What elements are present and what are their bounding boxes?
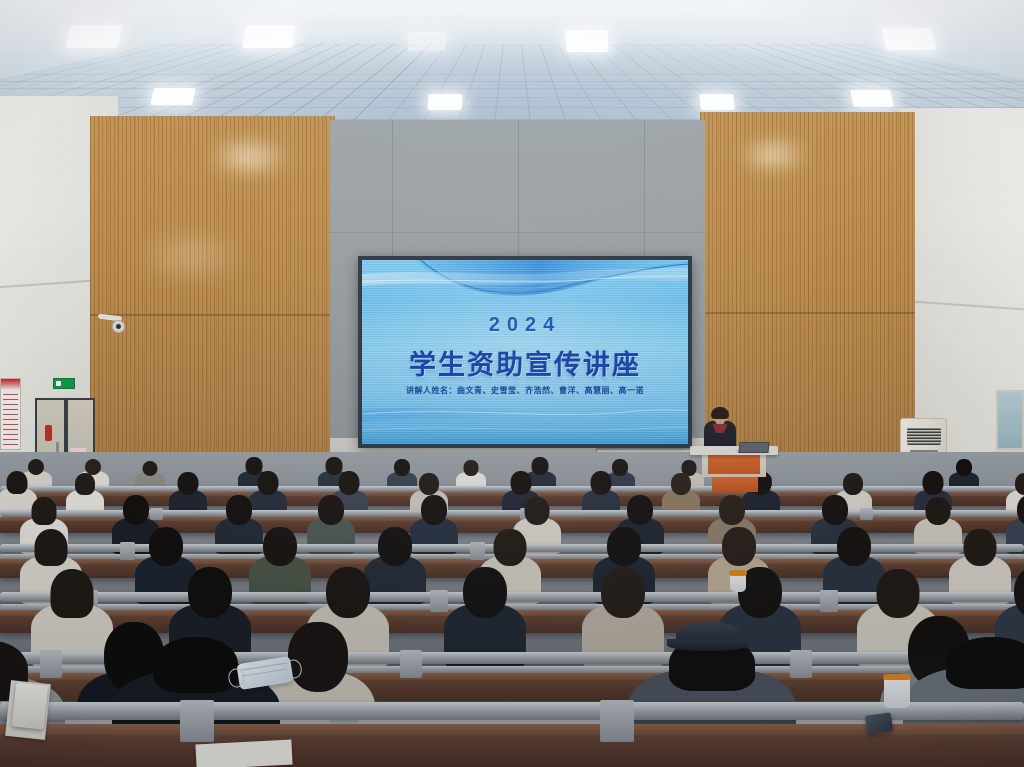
- ceiling-light-panel: [150, 88, 196, 105]
- wood-light-reflection: [206, 138, 292, 176]
- camera-lens: [116, 324, 121, 329]
- cup-lid: [883, 674, 911, 680]
- cup-body: [884, 678, 910, 708]
- ceiling-light-panel: [408, 32, 446, 51]
- side-window: [996, 390, 1024, 450]
- cup-lid: [729, 570, 747, 576]
- wall-panel-seam: [330, 232, 705, 233]
- mask-pleat: [241, 662, 287, 670]
- notice-board-text-lines: [3, 393, 18, 445]
- slide-presenters-text: 讲解人姓名：曲文青、史雪莹、齐浩然、曹洋、高慧丽、高一诺: [362, 385, 688, 396]
- presenter-laptop[interactable]: [736, 442, 770, 454]
- security-camera-icon: [98, 315, 124, 337]
- slide-year-text: 2024: [362, 314, 688, 337]
- person-hair: [877, 569, 920, 618]
- camera-dome: [112, 320, 125, 333]
- person-hair: [601, 567, 645, 618]
- ceiling-light-panel: [881, 28, 936, 50]
- ceiling-light-panel: [699, 94, 735, 110]
- ceiling-light-panel: [65, 25, 123, 48]
- person-hair: [154, 637, 238, 693]
- exit-sign-figure-icon: [56, 381, 61, 386]
- drink-cup: [884, 674, 910, 710]
- bench-bracket: [180, 700, 214, 742]
- podium-front-panel: [708, 455, 760, 474]
- ac-air-grille: [907, 428, 941, 445]
- lecture-hall-photo: 2024 学生资助宣传讲座 讲解人姓名：曲文青、史雪莹、齐浩然、曹洋、高慧丽、高…: [0, 0, 1024, 767]
- led-display-screen[interactable]: 2024 学生资助宣传讲座 讲解人姓名：曲文青、史雪莹、齐浩然、曹洋、高慧丽、高…: [358, 256, 692, 448]
- cup-body: [730, 574, 746, 592]
- slide-title-text: 学生资助宣传讲座: [362, 343, 688, 382]
- screen-surface: 2024 学生资助宣传讲座 讲解人姓名：曲文青、史雪莹、齐浩然、曹洋、高慧丽、高…: [362, 260, 688, 444]
- ceiling-light-panel: [428, 94, 463, 110]
- baseball-cap: [676, 622, 740, 656]
- person-hair: [51, 569, 94, 618]
- wood-panel-seam: [90, 314, 335, 316]
- person-hair: [188, 567, 232, 618]
- ceiling-light-panel: [850, 90, 894, 107]
- lectern-podium: [690, 440, 778, 492]
- fire-extinguisher: [45, 425, 52, 441]
- podium-base: [712, 477, 758, 492]
- wood-light-reflection: [130, 226, 250, 286]
- laptop-screen: [738, 442, 769, 453]
- person-hair: [463, 567, 507, 618]
- person-hair: [946, 637, 1024, 689]
- wood-light-reflection: [736, 138, 810, 172]
- red-notice-board: [0, 378, 21, 450]
- paper-sheet: [195, 740, 292, 767]
- smartphone[interactable]: [12, 682, 48, 729]
- emergency-exit-sign: [53, 378, 75, 389]
- smartphone[interactable]: [865, 712, 893, 734]
- ceiling-light-panel: [565, 30, 609, 52]
- cap-brim: [667, 639, 749, 651]
- bench-bracket: [600, 700, 634, 742]
- tiered-seating-area: [0, 452, 1024, 767]
- ceiling-light-panel: [242, 26, 295, 48]
- drink-cup: [730, 570, 746, 592]
- presenter-hair: [711, 407, 729, 419]
- person-hair: [326, 567, 370, 618]
- wood-panel-seam: [700, 312, 915, 314]
